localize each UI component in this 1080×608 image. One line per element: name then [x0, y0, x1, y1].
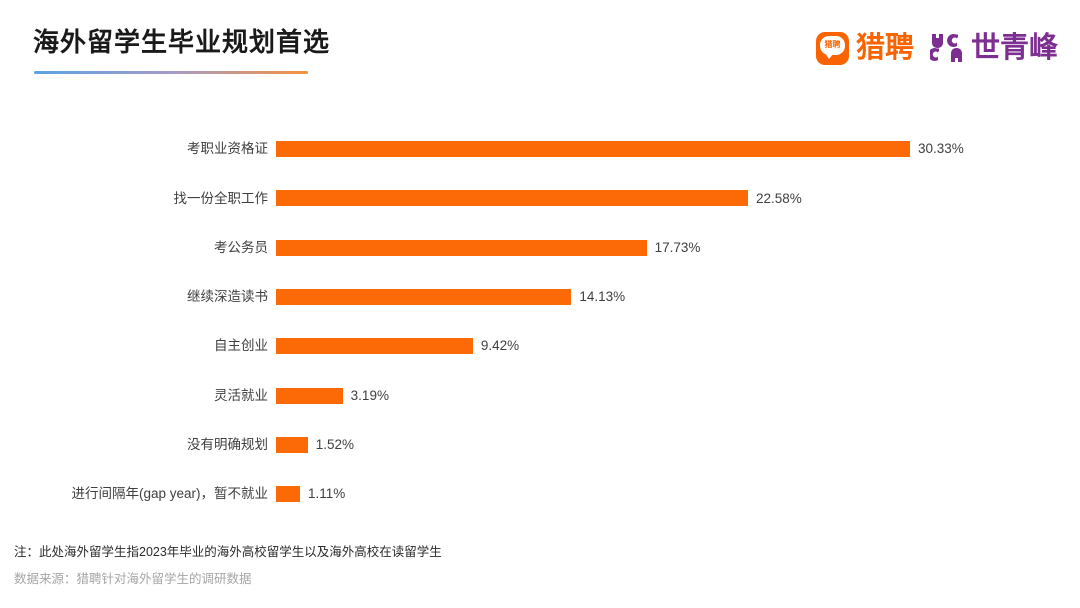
footnote-source: 数据来源：猎聘针对海外留学生的调研数据	[14, 572, 442, 587]
bar-value-label: 1.52%	[316, 438, 354, 452]
shiqingfeng-wordmark: 世青峰	[971, 34, 1058, 63]
bar-value-label: 3.19%	[351, 389, 389, 403]
logo-bar: 猎聘 猎聘	[816, 26, 1058, 70]
bar-row: 自主创业9.42%	[0, 333, 1080, 359]
bar-category-label: 进行间隔年(gap year)，暂不就业	[0, 487, 268, 501]
liepin-speech-bubble-icon: 猎聘	[816, 32, 849, 65]
bar-row: 灵活就业3.19%	[0, 383, 1080, 409]
bar-category-label: 自主创业	[0, 339, 268, 353]
bar-category-label: 考职业资格证	[0, 142, 268, 156]
bar-category-label: 灵活就业	[0, 389, 268, 403]
bar-value-label: 30.33%	[918, 142, 964, 156]
bar-value-label: 14.13%	[579, 290, 625, 304]
page-title: 海外留学生毕业规划首选	[33, 22, 330, 59]
bar-row: 考职业资格证30.33%	[0, 136, 1080, 162]
bar-track: 22.58%	[276, 185, 802, 211]
bar-row: 继续深造读书14.13%	[0, 284, 1080, 310]
bar[interactable]	[276, 190, 748, 206]
title-underline-rule	[34, 71, 308, 74]
bar-track: 14.13%	[276, 284, 625, 310]
bar[interactable]	[276, 240, 647, 256]
bar[interactable]	[276, 486, 300, 502]
shiqingfeng-quad-glyph-icon	[930, 33, 964, 63]
bar-category-label: 没有明确规划	[0, 438, 268, 452]
bar[interactable]	[276, 289, 571, 305]
shiqingfeng-logo[interactable]: 世青峰	[930, 33, 1058, 63]
bar-category-label: 继续深造读书	[0, 290, 268, 304]
bar-track: 1.52%	[276, 432, 354, 458]
bar-value-label: 9.42%	[481, 339, 519, 353]
bar-category-label: 考公务员	[0, 241, 268, 255]
bar-row: 进行间隔年(gap year)，暂不就业1.11%	[0, 481, 1080, 507]
liepin-wordmark: 猎聘	[856, 34, 914, 63]
liepin-logo[interactable]: 猎聘 猎聘	[816, 32, 914, 65]
bar[interactable]	[276, 338, 473, 354]
bar-row: 找一份全职工作22.58%	[0, 185, 1080, 211]
bar-track: 17.73%	[276, 235, 700, 261]
bar-value-label: 1.11%	[308, 487, 345, 501]
footnote-note: 注：此处海外留学生指2023年毕业的海外高校留学生以及海外高校在读留学生	[14, 545, 442, 560]
bar[interactable]	[276, 141, 910, 157]
bar-category-label: 找一份全职工作	[0, 192, 268, 206]
bar-track: 3.19%	[276, 383, 389, 409]
bar-row: 没有明确规划1.52%	[0, 432, 1080, 458]
bar-track: 1.11%	[276, 481, 345, 507]
bar[interactable]	[276, 388, 343, 404]
bar[interactable]	[276, 437, 308, 453]
page-header: 海外留学生毕业规划首选 猎聘 猎聘	[0, 0, 1080, 92]
bar-value-label: 22.58%	[756, 192, 802, 206]
bar-track: 30.33%	[276, 136, 964, 162]
bar-track: 9.42%	[276, 333, 519, 359]
bar-value-label: 17.73%	[655, 241, 701, 255]
footnotes: 注：此处海外留学生指2023年毕业的海外高校留学生以及海外高校在读留学生 数据来…	[14, 545, 442, 587]
horizontal-bar-chart: 考职业资格证30.33%找一份全职工作22.58%考公务员17.73%继续深造读…	[0, 122, 1080, 522]
bar-row: 考公务员17.73%	[0, 235, 1080, 261]
liepin-mark-text: 猎聘	[820, 36, 845, 55]
